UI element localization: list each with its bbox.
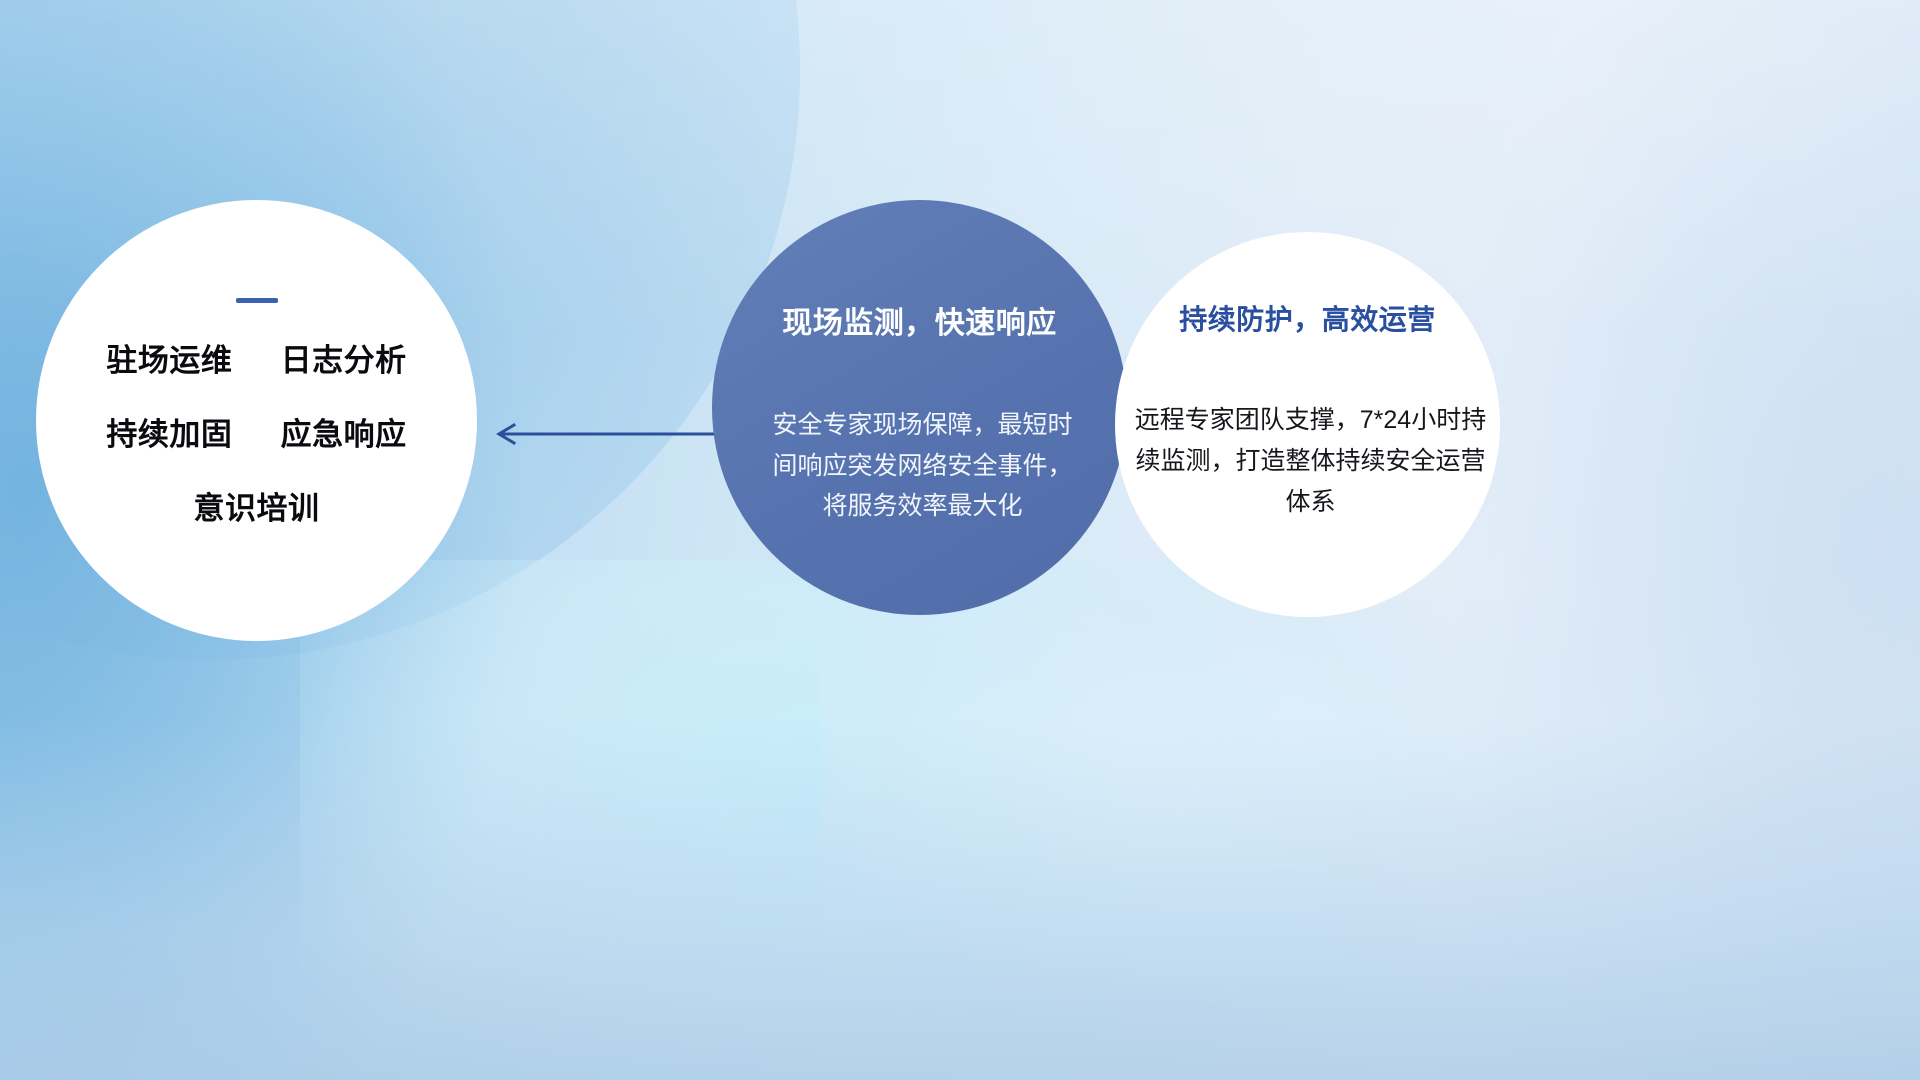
capability-label: 意识培训 [194, 491, 320, 526]
leftward-arrow [488, 418, 728, 450]
onsite-monitoring-body: 安全专家现场保障，最短时间响应突发网络安全事件，将服务效率最大化 [764, 405, 1081, 527]
continuous-protection-body: 远程专家团队支撑，7*24小时持续监测，打造整体持续安全运营体系 [1133, 400, 1488, 523]
capability-row: 持续加固 应急响应 [36, 419, 477, 450]
capabilities-circle: 驻场运维 日志分析 持续加固 应急响应 意识培训 [36, 200, 477, 641]
background-bottom-fade [0, 720, 1920, 1080]
capability-row: 意识培训 [36, 493, 477, 524]
capability-label: 持续加固 [106, 417, 232, 452]
dash-divider-icon [236, 298, 278, 303]
capability-label: 驻场运维 [106, 343, 232, 378]
continuous-protection-circle: 持续防护，高效运营 远程专家团队支撑，7*24小时持续监测，打造整体持续安全运营… [1115, 232, 1500, 617]
capability-label: 应急响应 [281, 417, 407, 452]
onsite-monitoring-circle: 现场监测，快速响应 安全专家现场保障，最短时间响应突发网络安全事件，将服务效率最… [712, 200, 1127, 615]
continuous-protection-title: 持续防护，高效运营 [1115, 298, 1500, 338]
capability-row: 驻场运维 日志分析 [36, 345, 477, 376]
onsite-monitoring-title: 现场监测，快速响应 [712, 298, 1127, 342]
capabilities-content: 驻场运维 日志分析 持续加固 应急响应 意识培训 [36, 298, 477, 524]
slide-canvas: 驻场运维 日志分析 持续加固 应急响应 意识培训 现场监测，快速响应 安全专家现… [0, 0, 1920, 1080]
capability-label: 日志分析 [281, 343, 407, 378]
